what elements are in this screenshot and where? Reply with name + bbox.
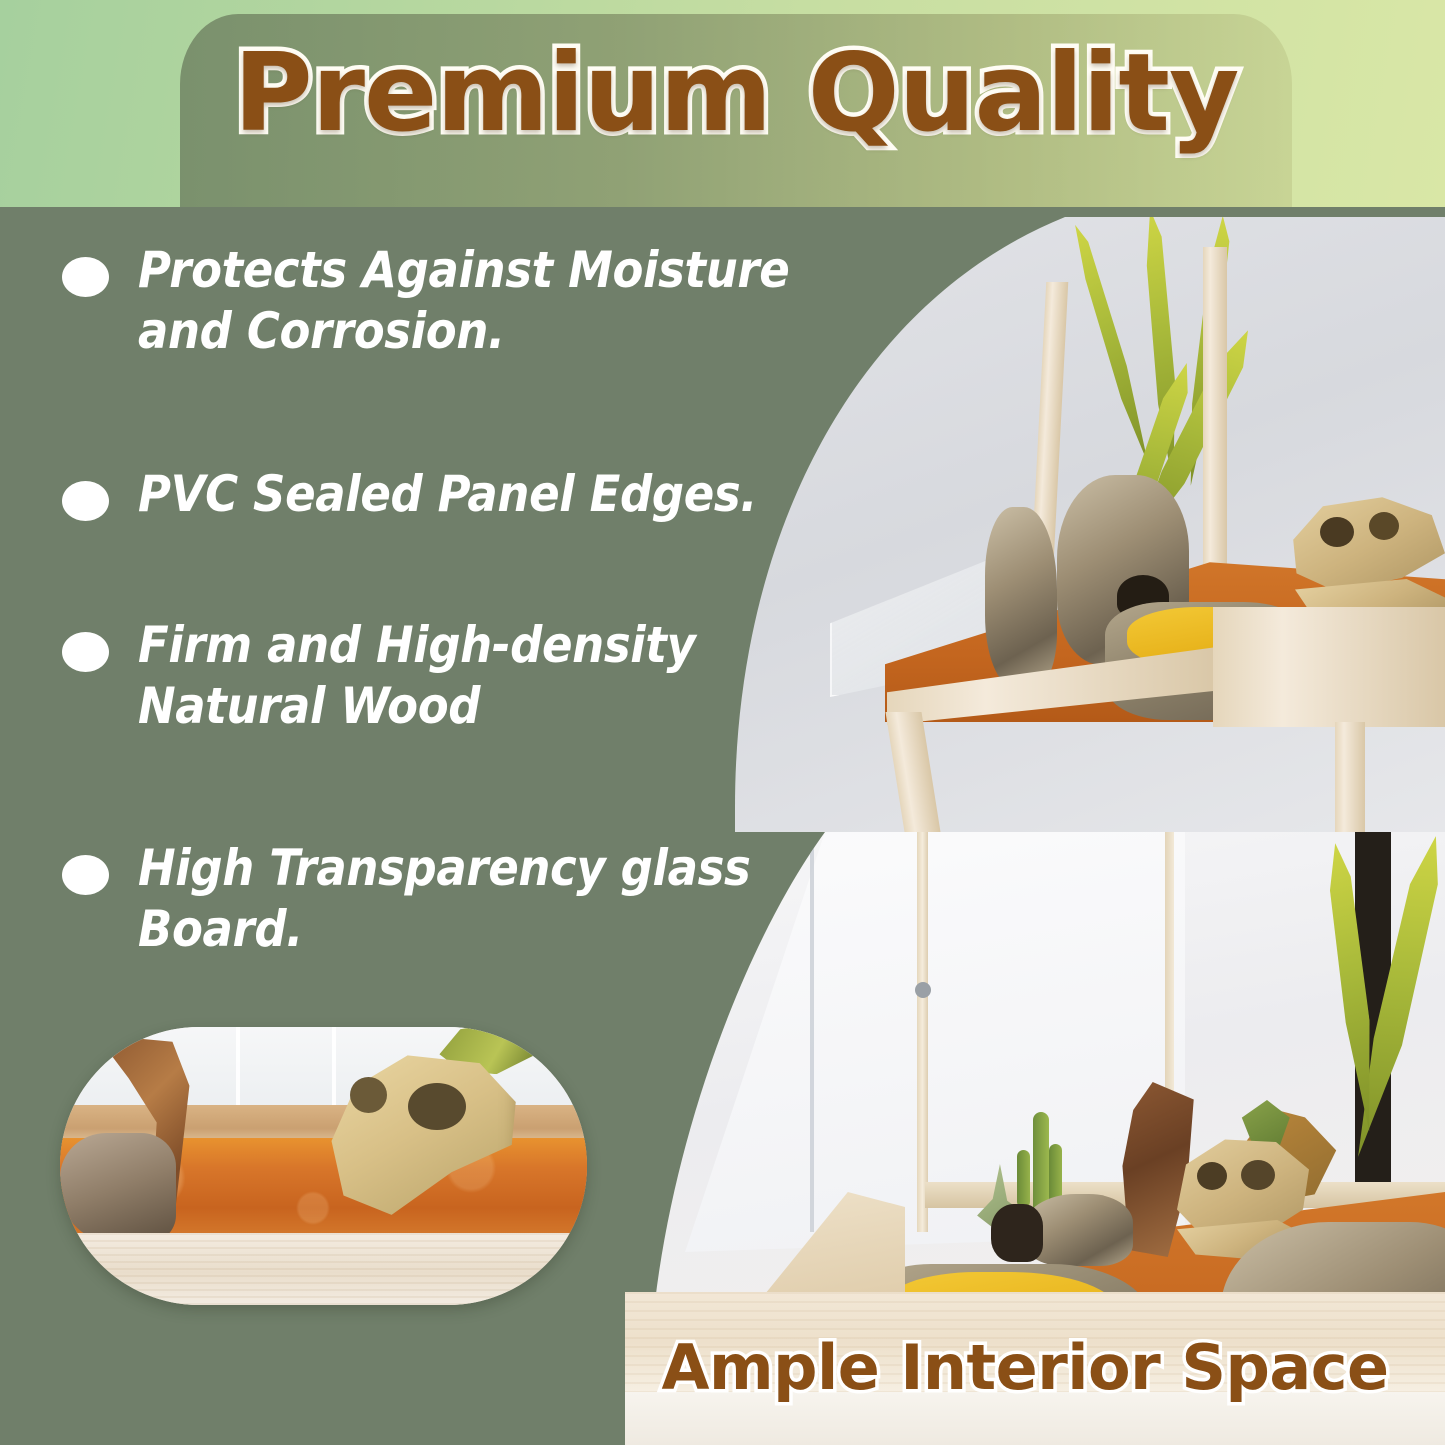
skull-eye-socket bbox=[1197, 1162, 1227, 1190]
terrarium-leg bbox=[1335, 722, 1365, 832]
bottom-caption: Ample Interior Space bbox=[605, 1337, 1445, 1399]
terrarium-base-wood bbox=[60, 1233, 587, 1305]
filled-circle-bullet-icon bbox=[62, 632, 109, 672]
terrarium-frame-post bbox=[917, 832, 928, 1232]
feature-panel: Protects Against Moisture and Corrosion.… bbox=[0, 207, 1445, 1445]
filled-circle-bullet-icon bbox=[62, 257, 109, 297]
rock-shadow-decor bbox=[991, 1204, 1043, 1262]
header-banner-area: Premium Quality bbox=[0, 0, 1445, 208]
cactus-decor bbox=[1017, 1150, 1030, 1208]
page-title: Premium Quality bbox=[180, 40, 1292, 148]
hinge-icon bbox=[915, 982, 931, 998]
feature-text: PVC Sealed Panel Edges. bbox=[138, 464, 757, 525]
feature-text: Protects Against Moisture and Corrosion. bbox=[138, 240, 808, 362]
filled-circle-bullet-icon bbox=[62, 855, 109, 895]
skull-eye-socket bbox=[408, 1083, 466, 1130]
feature-text: High Transparency glass Board. bbox=[138, 838, 808, 960]
rock-decor bbox=[60, 1133, 176, 1244]
rock-decor bbox=[985, 507, 1057, 687]
skull-eye-socket bbox=[1241, 1160, 1275, 1190]
skull-eye-socket bbox=[350, 1077, 387, 1113]
filled-circle-bullet-icon bbox=[62, 481, 109, 521]
list-item: High Transparency glass Board. bbox=[62, 838, 882, 960]
list-item: Protects Against Moisture and Corrosion. bbox=[62, 240, 882, 362]
terrarium-leg bbox=[885, 712, 940, 832]
list-item: PVC Sealed Panel Edges. bbox=[62, 464, 882, 525]
feature-text: Firm and High-density Natural Wood bbox=[138, 615, 808, 737]
skull-eye-socket bbox=[1369, 512, 1399, 540]
photo-terrarium-driftwood-skull-closeup bbox=[60, 1027, 587, 1305]
list-item: Firm and High-density Natural Wood bbox=[62, 615, 882, 737]
terrarium-front-rail bbox=[1213, 607, 1445, 727]
skull-eye-socket bbox=[1320, 517, 1354, 547]
